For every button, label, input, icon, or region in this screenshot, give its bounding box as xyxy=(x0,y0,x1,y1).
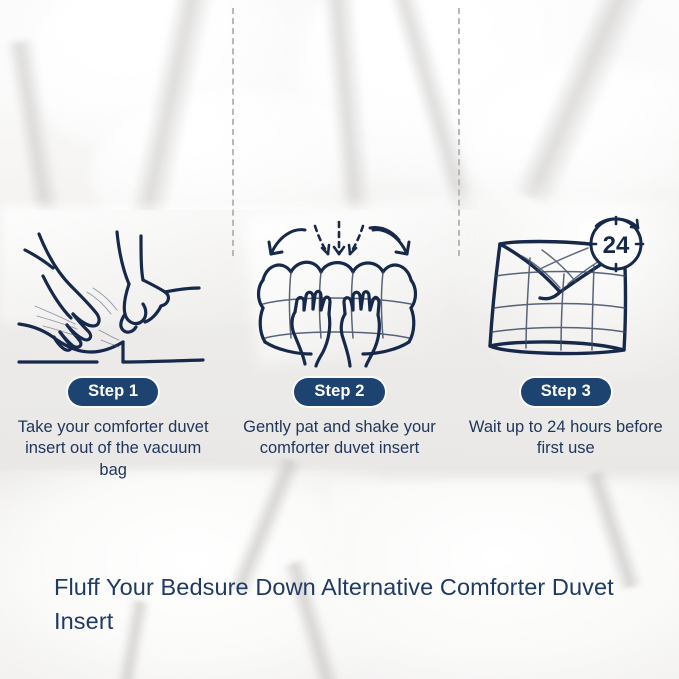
folded-comforter-with-timer-icon: 24 xyxy=(476,214,656,366)
dashed-down-arrows-icon xyxy=(315,222,363,254)
step-1-badge: Step 1 xyxy=(68,378,158,406)
step-2-illustration-wrap xyxy=(226,214,452,366)
hands-patting-comforter-icon xyxy=(249,214,429,366)
step-1-illustration-wrap xyxy=(0,214,226,366)
steps-row: Step 1 Take your comforter duvet insert … xyxy=(0,214,679,484)
comforter-fluffing-infographic: Step 1 Take your comforter duvet insert … xyxy=(0,0,679,679)
step-2-text: Gently pat and shake your comforter duve… xyxy=(240,417,439,461)
step-1-text: Take your comforter duvet insert out of … xyxy=(14,417,213,483)
two-hands-pressing-comforter-icon xyxy=(13,214,213,366)
step-column-2: Step 2 Gently pat and shake your comfort… xyxy=(226,214,452,484)
step-column-3: 24 Step 3 Wait up to 24 hours before fir… xyxy=(453,214,679,484)
step-divider-1 xyxy=(232,8,234,256)
step-3-text: Wait up to 24 hours before first use xyxy=(466,417,665,461)
page-headline: Fluff Your Bedsure Down Alternative Comf… xyxy=(54,570,664,638)
timer-value: 24 xyxy=(602,232,629,259)
step-3-illustration-wrap: 24 xyxy=(453,214,679,366)
step-divider-2 xyxy=(458,8,460,256)
step-column-1: Step 1 Take your comforter duvet insert … xyxy=(0,214,226,484)
step-2-badge: Step 2 xyxy=(294,378,384,406)
step-3-badge: Step 3 xyxy=(521,378,611,406)
